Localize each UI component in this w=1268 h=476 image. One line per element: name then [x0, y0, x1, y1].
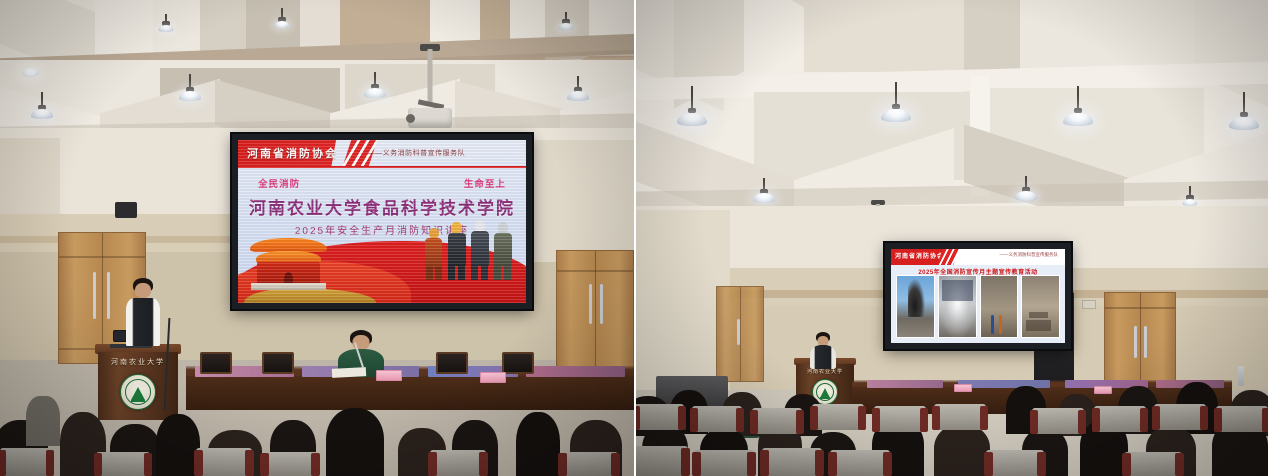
name-card — [1094, 386, 1112, 394]
lecture-hall-photo-left: 河南省消防协会 ——义务消防科普宣传服务队 全民消防 生命至上 河南农业大学食品… — [0, 0, 634, 476]
slide-photo-grid — [896, 275, 1060, 338]
auditorium-seat[interactable] — [986, 450, 1044, 476]
auditorium-seat[interactable] — [812, 404, 864, 430]
auditorium-seat[interactable] — [692, 406, 742, 432]
auditorium-seat[interactable] — [1032, 408, 1084, 434]
slide-banner-subtitle-right: ——义务消防科普宣传服务队 — [1000, 252, 1059, 258]
auditorium-seat[interactable] — [830, 450, 890, 476]
ceiling-spot — [22, 68, 39, 77]
auditorium-seat[interactable] — [430, 450, 486, 476]
firefighter-figure — [425, 228, 442, 280]
led-screen-photo-slide[interactable]: 河南省消防协会 ——义务消防科普宣传服务队 2025年全国消防宣传月主题宣传教育… — [885, 243, 1071, 349]
table-chair[interactable] — [436, 352, 468, 374]
slide-banner-subtitle: ——义务消防科普宣传服务队 — [368, 148, 466, 158]
slide-banner-rule — [238, 166, 526, 168]
auditorium-seat[interactable] — [694, 450, 754, 476]
slide-photo-panel — [896, 275, 935, 338]
slide-banner: 河南省消防协会 ——义务消防科普宣传服务队 — [238, 140, 526, 166]
wall-thermostat — [1082, 300, 1096, 309]
slide-photo-panel — [1021, 275, 1060, 338]
slide-photo-panel — [980, 275, 1019, 338]
wall-speaker — [115, 202, 137, 218]
auditorium-seat[interactable] — [96, 452, 150, 476]
table-chair[interactable] — [200, 352, 232, 374]
audience-member — [326, 408, 384, 476]
name-card — [376, 370, 402, 381]
university-emblem — [120, 374, 156, 410]
soldier-figure — [494, 222, 512, 280]
lecture-hall-photo-right: 河南省消防协会 ——义务消防科普宣传服务队 2025年全国消防宣传月主题宣传教育… — [634, 0, 1268, 476]
auditorium-seat[interactable] — [752, 408, 802, 434]
head-table — [186, 366, 634, 410]
door-handle[interactable] — [93, 272, 96, 319]
slide-content: 河南省消防协会 ——义务消防科普宣传服务队 全民消防 生命至上 河南农业大学食品… — [238, 140, 526, 303]
slide-tag-right: 生命至上 — [464, 176, 506, 190]
auditorium-seat[interactable] — [560, 452, 618, 476]
door-handle[interactable] — [589, 284, 592, 324]
slide-tag-left: 全民消防 — [258, 176, 300, 190]
auditorium-seat[interactable] — [1124, 452, 1182, 476]
door-side[interactable] — [716, 286, 764, 382]
table-glow — [526, 366, 625, 377]
door-handle[interactable] — [1144, 326, 1147, 359]
photo-composite: 河南省消防协会 ——义务消防科普宣传服务队 全民消防 生命至上 河南农业大学食品… — [0, 0, 1268, 476]
water-bottle — [1238, 366, 1244, 386]
table-glow — [958, 380, 1049, 388]
auditorium-seat[interactable] — [1094, 406, 1146, 432]
door-handle[interactable] — [737, 319, 740, 345]
auditorium-seat[interactable] — [874, 406, 926, 432]
audience-member — [26, 396, 60, 446]
auditorium-seat[interactable] — [0, 448, 52, 476]
photo-divider — [634, 0, 636, 476]
audience-member — [516, 412, 560, 476]
firefighter-figure — [471, 220, 489, 280]
ceiling-projector — [400, 44, 460, 116]
door-handle[interactable] — [600, 284, 603, 324]
door-right[interactable] — [556, 250, 634, 370]
document-papers — [332, 367, 366, 378]
auditorium-seat[interactable] — [1154, 404, 1206, 430]
firefighter-figure — [448, 222, 466, 280]
led-screen-title-slide[interactable]: 河南省消防协会 ——义务消防科普宣传服务队 全民消防 生命至上 河南农业大学食品… — [232, 134, 532, 309]
auditorium-seat[interactable] — [1216, 406, 1268, 432]
wall-right-upper — [520, 140, 634, 262]
auditorium-seat[interactable] — [934, 404, 986, 430]
name-card — [954, 384, 972, 392]
tiananmen-illustration — [250, 238, 328, 290]
name-card — [480, 372, 506, 383]
auditorium-seat[interactable] — [762, 448, 822, 476]
slide-banner-org: 河南省消防协会 — [238, 145, 338, 161]
podium-nameplate: 河南农业大学 — [101, 356, 175, 368]
door-handle[interactable] — [1134, 326, 1137, 359]
auditorium-seat[interactable] — [634, 446, 688, 476]
slide-photo-panel — [938, 275, 977, 338]
slide-content-right: 河南省消防协会 ——义务消防科普宣传服务队 2025年全国消防宣传月主题宣传教育… — [891, 249, 1065, 343]
auditorium-seat[interactable] — [262, 452, 318, 476]
slide-title: 河南农业大学食品科学技术学院 — [238, 194, 526, 219]
table-glow — [867, 380, 943, 388]
table-chair[interactable] — [262, 352, 294, 374]
auditorium-seat[interactable] — [196, 448, 252, 476]
door-handle[interactable] — [107, 272, 110, 319]
speaker-at-podium-right — [810, 332, 836, 368]
speaker-at-podium — [126, 278, 160, 346]
table-chair[interactable] — [502, 352, 534, 374]
auditorium-seat[interactable] — [634, 404, 684, 430]
audience-member — [934, 424, 990, 476]
